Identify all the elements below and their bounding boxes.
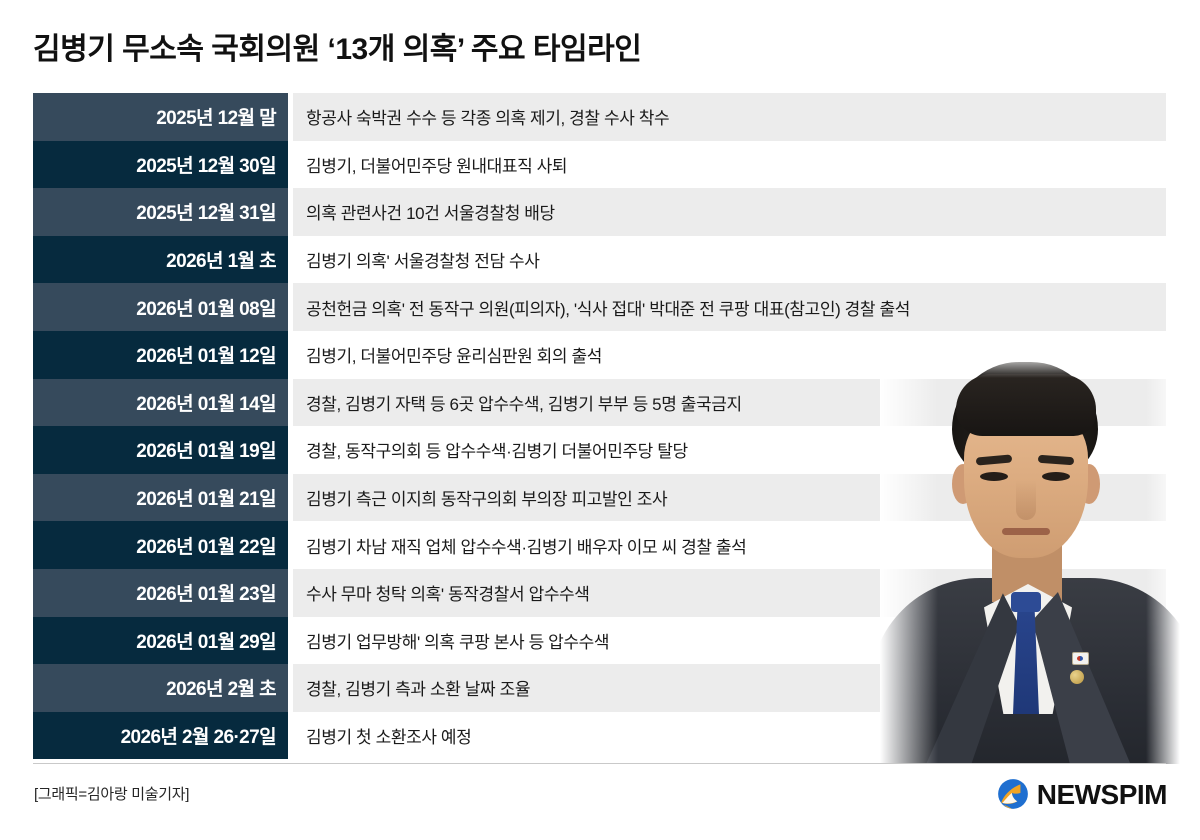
table-row: 2026년 01월 29일김병기 업무방해' 의혹 쿠팡 본사 등 압수수색 xyxy=(33,617,1166,665)
table-row: 2026년 01월 21일김병기 측근 이지희 동작구의회 부의장 피고발인 조… xyxy=(33,474,1166,522)
newspim-logo-text: NEWSPIM xyxy=(1037,781,1167,809)
timeline-event-text: 김병기 의혹' 서울경찰청 전담 수사 xyxy=(306,247,540,272)
timeline-event-text: 경찰, 김병기 자택 등 6곳 압수수색, 김병기 부부 등 5명 출국금지 xyxy=(306,390,742,415)
timeline-table: 2025년 12월 말항공사 숙박권 수수 등 각종 의혹 제기, 경찰 수사 … xyxy=(33,93,1166,759)
timeline-event-cell: 김병기 첫 소환조사 예정 xyxy=(293,712,1166,760)
timeline-date-text: 2026년 01월 22일 xyxy=(136,532,276,559)
timeline-event-text: 김병기 첫 소환조사 예정 xyxy=(306,723,471,748)
timeline-event-cell: 경찰, 김병기 측과 소환 날짜 조율 xyxy=(293,664,1166,712)
graphic-credit: [그래픽=김아랑 미술기자] xyxy=(34,783,189,804)
table-row: 2026년 01월 14일경찰, 김병기 자택 등 6곳 압수수색, 김병기 부… xyxy=(33,379,1166,427)
timeline-date-cell: 2026년 01월 21일 xyxy=(33,474,288,522)
timeline-date-text: 2025년 12월 30일 xyxy=(136,151,276,178)
timeline-event-text: 항공사 숙박권 수수 등 각종 의혹 제기, 경찰 수사 착수 xyxy=(306,104,669,129)
table-row: 2026년 01월 23일수사 무마 청탁 의혹' 동작경찰서 압수수색 xyxy=(33,569,1166,617)
newspim-logo-icon xyxy=(996,778,1030,812)
timeline-event-text: 수사 무마 청탁 의혹' 동작경찰서 압수수색 xyxy=(306,580,590,605)
timeline-event-cell: 김병기 의혹' 서울경찰청 전담 수사 xyxy=(293,236,1166,284)
timeline-event-text: 경찰, 동작구의회 등 압수수색·김병기 더불어민주당 탈당 xyxy=(306,437,688,462)
timeline-event-text: 김병기 측근 이지희 동작구의회 부의장 피고발인 조사 xyxy=(306,485,667,510)
timeline-date-text: 2026년 2월 26·27일 xyxy=(121,722,276,749)
timeline-event-text: 김병기 차남 재직 업체 압수수색·김병기 배우자 이모 씨 경찰 출석 xyxy=(306,533,746,558)
timeline-event-cell: 의혹 관련사건 10건 서울경찰청 배당 xyxy=(293,188,1166,236)
timeline-event-text: 김병기, 더불어민주당 원내대표직 사퇴 xyxy=(306,152,567,177)
timeline-event-cell: 경찰, 김병기 자택 등 6곳 압수수색, 김병기 부부 등 5명 출국금지 xyxy=(293,379,1166,427)
table-row: 2026년 1월 초김병기 의혹' 서울경찰청 전담 수사 xyxy=(33,236,1166,284)
timeline-date-cell: 2025년 12월 30일 xyxy=(33,141,288,189)
timeline-date-cell: 2026년 1월 초 xyxy=(33,236,288,284)
timeline-date-cell: 2026년 01월 08일 xyxy=(33,283,288,331)
timeline-event-cell: 경찰, 동작구의회 등 압수수색·김병기 더불어민주당 탈당 xyxy=(293,426,1166,474)
timeline-date-cell: 2026년 01월 12일 xyxy=(33,331,288,379)
timeline-event-cell: 항공사 숙박권 수수 등 각종 의혹 제기, 경찰 수사 착수 xyxy=(293,93,1166,141)
timeline-date-cell: 2026년 01월 29일 xyxy=(33,617,288,665)
timeline-event-text: 공천헌금 의혹' 전 동작구 의원(피의자), '식사 접대' 박대준 전 쿠팡… xyxy=(306,295,910,320)
timeline-date-cell: 2026년 01월 23일 xyxy=(33,569,288,617)
table-row: 2025년 12월 30일김병기, 더불어민주당 원내대표직 사퇴 xyxy=(33,141,1166,189)
timeline-date-cell: 2026년 01월 19일 xyxy=(33,426,288,474)
table-row: 2025년 12월 말항공사 숙박권 수수 등 각종 의혹 제기, 경찰 수사 … xyxy=(33,93,1166,141)
timeline-date-cell: 2025년 12월 31일 xyxy=(33,188,288,236)
timeline-date-text: 2026년 1월 초 xyxy=(166,246,276,273)
timeline-event-cell: 공천헌금 의혹' 전 동작구 의원(피의자), '식사 접대' 박대준 전 쿠팡… xyxy=(293,283,1166,331)
timeline-event-cell: 김병기 측근 이지희 동작구의회 부의장 피고발인 조사 xyxy=(293,474,1166,522)
table-row: 2026년 2월 초경찰, 김병기 측과 소환 날짜 조율 xyxy=(33,664,1166,712)
infographic-page: 김병기 무소속 국회의원 ‘13개 의혹’ 주요 타임라인 xyxy=(0,0,1200,840)
timeline-date-text: 2026년 01월 19일 xyxy=(136,436,276,463)
timeline-date-text: 2026년 01월 21일 xyxy=(136,484,276,511)
timeline-date-cell: 2026년 2월 초 xyxy=(33,664,288,712)
timeline-event-text: 의혹 관련사건 10건 서울경찰청 배당 xyxy=(306,199,555,224)
timeline-event-text: 경찰, 김병기 측과 소환 날짜 조율 xyxy=(306,675,530,700)
footer-divider xyxy=(33,763,1166,764)
timeline-date-cell: 2026년 2월 26·27일 xyxy=(33,712,288,760)
timeline-date-text: 2026년 01월 23일 xyxy=(136,579,276,606)
timeline-date-text: 2026년 01월 14일 xyxy=(136,389,276,416)
table-row: 2026년 01월 12일김병기, 더불어민주당 윤리심판원 회의 출석 xyxy=(33,331,1166,379)
timeline-event-cell: 김병기, 더불어민주당 윤리심판원 회의 출석 xyxy=(293,331,1166,379)
page-title: 김병기 무소속 국회의원 ‘13개 의혹’ 주요 타임라인 xyxy=(33,24,641,68)
timeline-date-text: 2026년 01월 08일 xyxy=(136,294,276,321)
table-row: 2026년 01월 22일김병기 차남 재직 업체 압수수색·김병기 배우자 이… xyxy=(33,521,1166,569)
timeline-date-cell: 2026년 01월 22일 xyxy=(33,521,288,569)
timeline-event-text: 김병기 업무방해' 의혹 쿠팡 본사 등 압수수색 xyxy=(306,628,609,653)
timeline-event-cell: 김병기, 더불어민주당 원내대표직 사퇴 xyxy=(293,141,1166,189)
timeline-event-cell: 김병기 업무방해' 의혹 쿠팡 본사 등 압수수색 xyxy=(293,617,1166,665)
table-row: 2025년 12월 31일의혹 관련사건 10건 서울경찰청 배당 xyxy=(33,188,1166,236)
timeline-date-text: 2025년 12월 31일 xyxy=(136,198,276,225)
timeline-event-text: 김병기, 더불어민주당 윤리심판원 회의 출석 xyxy=(306,342,602,367)
timeline-event-cell: 수사 무마 청탁 의혹' 동작경찰서 압수수색 xyxy=(293,569,1166,617)
timeline-date-text: 2025년 12월 말 xyxy=(156,103,276,130)
table-row: 2026년 2월 26·27일김병기 첫 소환조사 예정 xyxy=(33,712,1166,760)
table-row: 2026년 01월 19일경찰, 동작구의회 등 압수수색·김병기 더불어민주당… xyxy=(33,426,1166,474)
timeline-date-text: 2026년 01월 29일 xyxy=(136,627,276,654)
timeline-date-text: 2026년 01월 12일 xyxy=(136,341,276,368)
timeline-date-cell: 2025년 12월 말 xyxy=(33,93,288,141)
timeline-date-cell: 2026년 01월 14일 xyxy=(33,379,288,427)
timeline-event-cell: 김병기 차남 재직 업체 압수수색·김병기 배우자 이모 씨 경찰 출석 xyxy=(293,521,1166,569)
table-row: 2026년 01월 08일공천헌금 의혹' 전 동작구 의원(피의자), '식사… xyxy=(33,283,1166,331)
newspim-logo[interactable]: NEWSPIM xyxy=(996,778,1167,812)
timeline-date-text: 2026년 2월 초 xyxy=(166,674,276,701)
